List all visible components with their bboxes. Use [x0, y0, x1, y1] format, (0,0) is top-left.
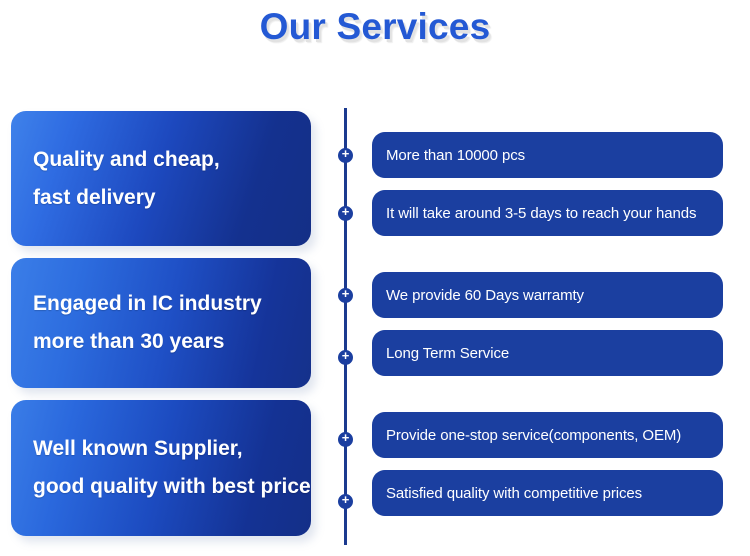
feature-card-line-2: more than 30 years [33, 323, 289, 361]
feature-card: Well known Supplier, good quality with b… [11, 400, 311, 536]
detail-pill: Satisfied quality with competitive price… [372, 470, 723, 516]
detail-pill: Provide one-stop service(components, OEM… [372, 412, 723, 458]
feature-card-line-2: fast delivery [33, 179, 289, 217]
feature-card-line-1: Quality and cheap, [33, 141, 289, 179]
feature-card-line-1: Well known Supplier, [33, 430, 289, 468]
plus-icon: + [338, 432, 353, 447]
plus-icon: + [338, 350, 353, 365]
detail-pill: More than 10000 pcs [372, 132, 723, 178]
page-title: Our Services [0, 6, 750, 48]
feature-card: Quality and cheap, fast delivery [11, 111, 311, 246]
detail-pill: Long Term Service [372, 330, 723, 376]
timeline-line [344, 108, 347, 545]
detail-pill-list: More than 10000 pcs It will take around … [372, 132, 723, 516]
services-infographic: Our Services Quality and cheap, fast del… [0, 0, 750, 556]
detail-pill: We provide 60 Days warramty [372, 272, 723, 318]
feature-card-line-1: Engaged in IC industry [33, 285, 289, 323]
plus-icon: + [338, 148, 353, 163]
feature-card: Engaged in IC industry more than 30 year… [11, 258, 311, 388]
plus-icon: + [338, 494, 353, 509]
detail-pill: It will take around 3-5 days to reach yo… [372, 190, 723, 236]
plus-icon: + [338, 288, 353, 303]
feature-card-line-2: good quality with best price [33, 468, 289, 506]
feature-card-list: Quality and cheap, fast delivery Engaged… [11, 111, 311, 536]
plus-icon: + [338, 206, 353, 221]
